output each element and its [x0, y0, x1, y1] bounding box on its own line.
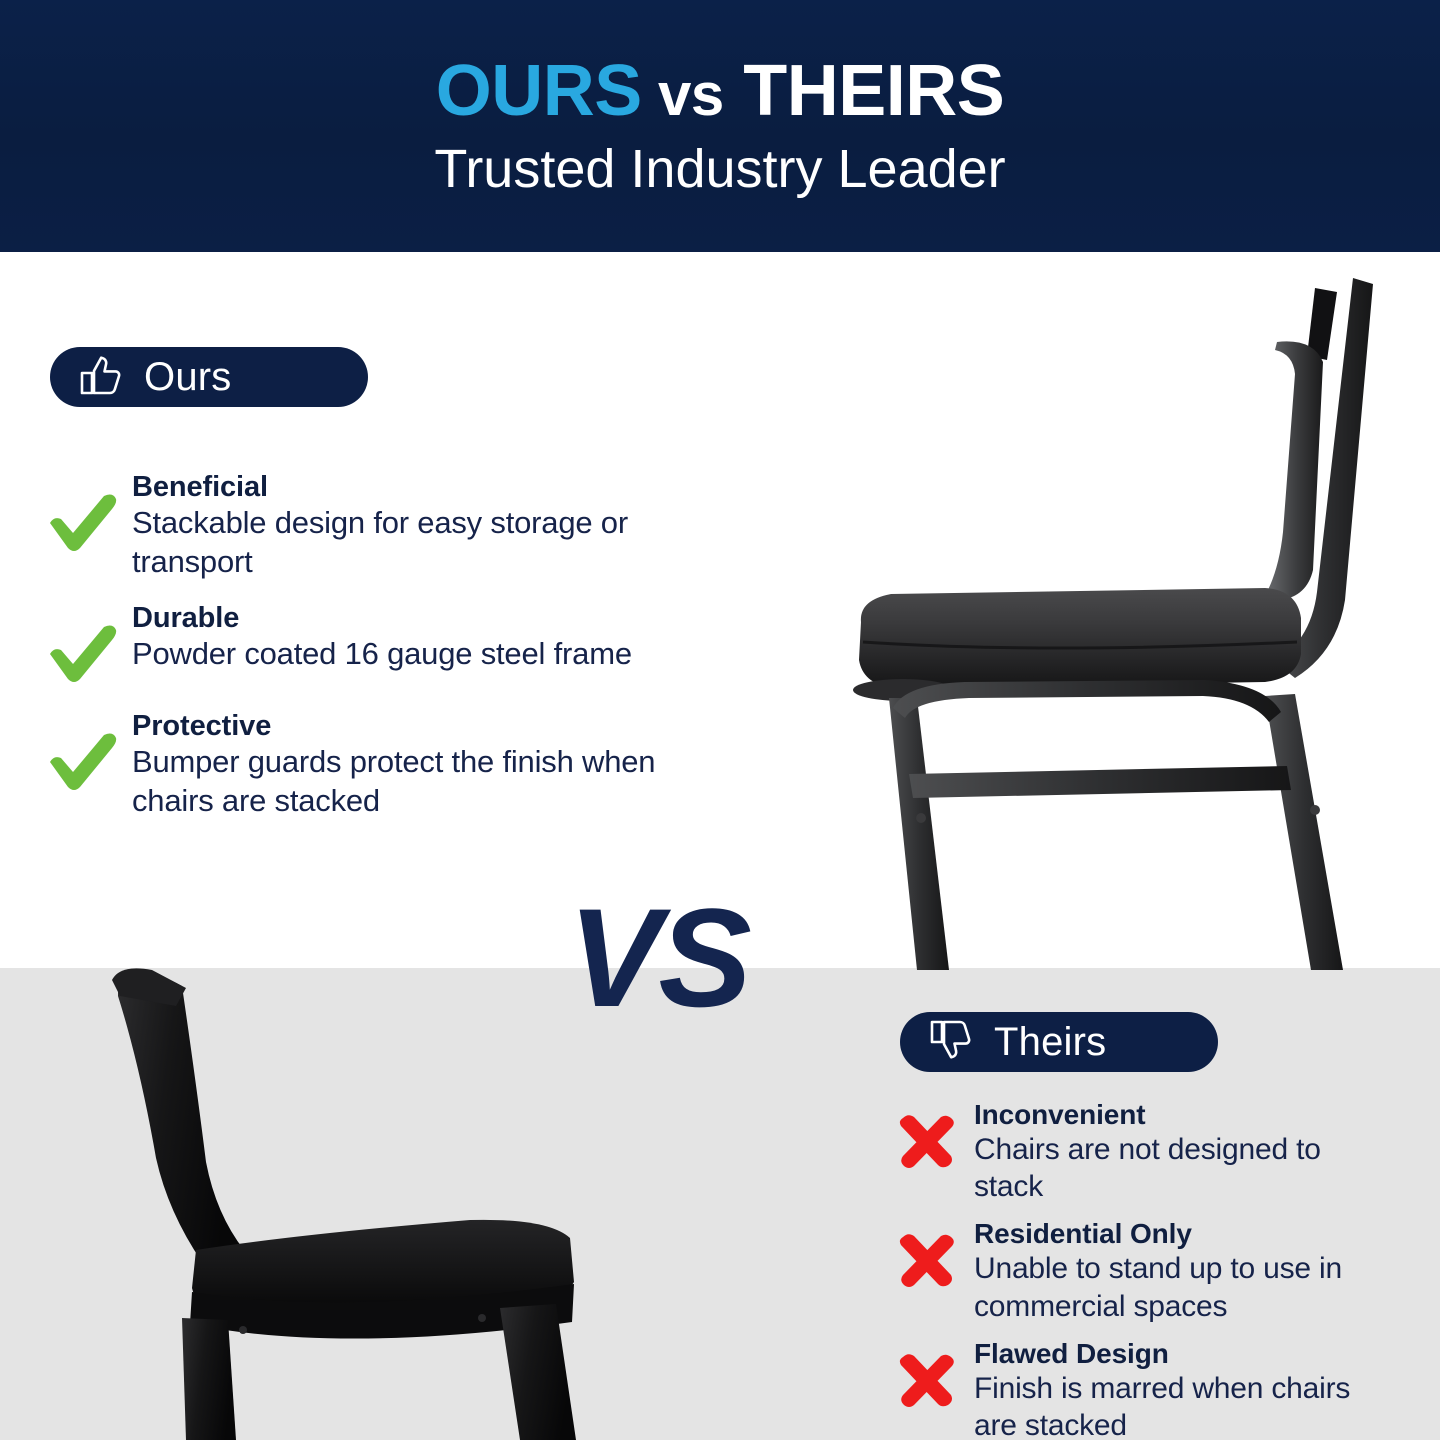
green-check-icon: [44, 486, 122, 558]
thumbs-up-icon: [76, 353, 122, 402]
list-item: Protective Bumper guards protect the fin…: [44, 709, 664, 820]
badge-ours[interactable]: Ours: [50, 347, 368, 407]
badge-ours-label: Ours: [144, 355, 231, 400]
list-item-description: Stackable design for easy storage or tra…: [132, 505, 628, 578]
theirs-product-image: [0, 962, 610, 1440]
header-band: OURS vs THEIRS Trusted Industry Leader: [0, 0, 1440, 252]
title-theirs: THEIRS: [743, 51, 1004, 131]
page-title: OURS vs THEIRS: [436, 55, 1005, 127]
red-x-icon: [890, 1229, 964, 1291]
list-item-title: Flawed Design: [974, 1338, 1169, 1369]
theirs-feature-list: Inconvenient Chairs are not designed to …: [890, 1098, 1390, 1440]
list-item-description: Powder coated 16 gauge steel frame: [132, 636, 632, 671]
comparison-infographic: OURS vs THEIRS Trusted Industry Leader: [0, 0, 1440, 1440]
plastic-chair-rear-leg: [500, 1304, 576, 1440]
title-vs-word: vs: [658, 61, 724, 128]
list-item-text: Beneficial Stackable design for easy sto…: [122, 470, 664, 581]
list-item-text: Inconvenient Chairs are not designed to …: [964, 1098, 1390, 1205]
chair-back-cushion: [1265, 341, 1323, 600]
list-item-title: Residential Only: [974, 1218, 1192, 1249]
plastic-chair-nub-right: [478, 1314, 486, 1322]
plastic-chair-back: [118, 974, 244, 1262]
plastic-chair-nub-left: [239, 1326, 247, 1334]
red-x-icon: [890, 1349, 964, 1411]
list-item-title: Inconvenient: [974, 1099, 1146, 1130]
thumbs-down-icon: [926, 1018, 972, 1067]
list-item-title: Beneficial: [132, 471, 268, 503]
title-vs: [642, 61, 658, 128]
list-item-description: Chairs are not designed to stack: [974, 1133, 1321, 1203]
badge-theirs-label: Theirs: [994, 1020, 1106, 1065]
list-item-description: Bumper guards protect the finish when ch…: [132, 744, 655, 817]
chair-upper-stretcher: [893, 680, 1281, 722]
list-item: Flawed Design Finish is marred when chai…: [890, 1337, 1390, 1440]
green-check-icon: [44, 617, 122, 689]
chair-lower-stretcher: [909, 766, 1291, 798]
plastic-chair-front-leg: [182, 1318, 236, 1440]
title-spacer: [724, 51, 744, 131]
list-item: Inconvenient Chairs are not designed to …: [890, 1098, 1390, 1205]
chair-rear-leg: [1265, 694, 1343, 970]
green-check-icon: [44, 725, 122, 797]
chair-glide-right: [1310, 805, 1320, 815]
red-x-icon: [890, 1110, 964, 1172]
list-item-title: Durable: [132, 602, 239, 634]
chair-seat-cushion: [859, 588, 1301, 688]
list-item-description: Unable to stand up to use in commercial …: [974, 1252, 1342, 1322]
list-item: Beneficial Stackable design for easy sto…: [44, 470, 664, 581]
list-item-text: Protective Bumper guards protect the fin…: [122, 709, 664, 820]
chair-glide-left: [916, 813, 926, 823]
badge-theirs[interactable]: Theirs: [900, 1012, 1218, 1072]
list-item-text: Durable Powder coated 16 gauge steel fra…: [122, 601, 664, 674]
list-item-text: Residential Only Unable to stand up to u…: [964, 1217, 1390, 1324]
ours-feature-list: Beneficial Stackable design for easy sto…: [44, 470, 664, 840]
title-ours: OURS: [436, 51, 642, 131]
list-item-title: Protective: [132, 710, 271, 742]
chair-front-leg: [889, 698, 949, 970]
list-item: Durable Powder coated 16 gauge steel fra…: [44, 601, 664, 689]
page-subtitle: Trusted Industry Leader: [434, 141, 1005, 198]
list-item-text: Flawed Design Finish is marred when chai…: [964, 1337, 1390, 1440]
ours-product-image: [845, 270, 1440, 970]
list-item-description: Finish is marred when chairs are stacked: [974, 1372, 1350, 1440]
vs-divider-label: VS: [568, 888, 749, 1028]
list-item: Residential Only Unable to stand up to u…: [890, 1217, 1390, 1324]
